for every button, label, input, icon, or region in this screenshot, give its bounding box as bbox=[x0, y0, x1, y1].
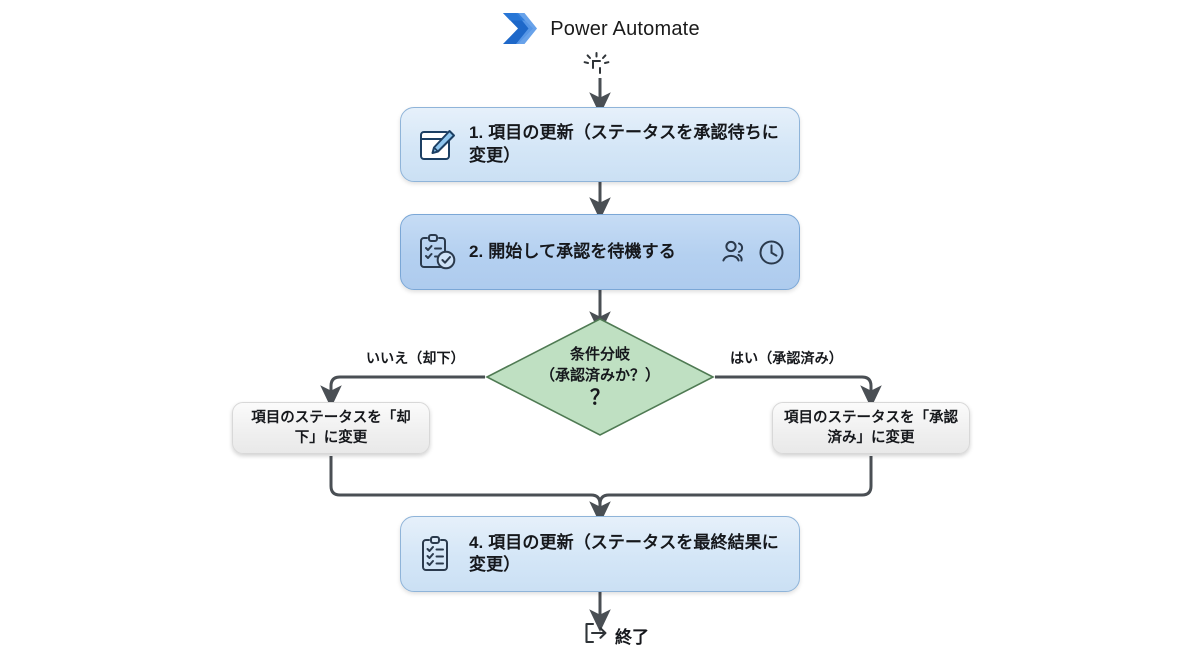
decision-line-2: （承認済みか？） bbox=[540, 366, 660, 386]
decision-line-1: 条件分岐 bbox=[570, 345, 630, 365]
decision-question-mark: ？ bbox=[590, 387, 610, 409]
end-label: 終了 bbox=[615, 623, 649, 648]
flowchart-canvas: Power Automate bbox=[0, 0, 1200, 669]
clipboard-list-icon bbox=[415, 532, 459, 576]
clipboard-check-icon bbox=[415, 230, 459, 274]
trigger-node bbox=[578, 52, 622, 87]
step-1-label: 1. 項目の更新（ステータスを承認待ちに変更） bbox=[469, 122, 785, 167]
step-2-start-and-wait-approval-box[interactable]: 2. 開始して承認を待機する bbox=[400, 214, 800, 290]
edit-note-icon bbox=[415, 123, 459, 167]
app-title: Power Automate bbox=[550, 19, 700, 39]
step-4-label: 4. 項目の更新（ステータスを最終結果に変更） bbox=[469, 532, 785, 577]
result-set-status-rejected-box[interactable]: 項目のステータスを「却下」に変更 bbox=[232, 402, 430, 454]
power-automate-logo-icon bbox=[500, 12, 538, 46]
decision-text: 条件分岐 （承認済みか？） ？ bbox=[485, 317, 715, 437]
step-4-update-item-final-box[interactable]: 4. 項目の更新（ステータスを最終結果に変更） bbox=[400, 516, 800, 592]
clock-icon bbox=[758, 239, 785, 266]
step-2-trailing-icons bbox=[720, 239, 785, 266]
result-approved-label: 項目のステータスを「承認済み」に変更 bbox=[783, 408, 959, 448]
end-node: 終了 bbox=[584, 622, 649, 649]
app-header: Power Automate bbox=[0, 12, 1200, 46]
decision-is-approved-diamond[interactable]: 条件分岐 （承認済みか？） ？ bbox=[485, 317, 715, 437]
step-2-label: 2. 開始して承認を待機する bbox=[469, 241, 712, 263]
branch-label-yes: はい（承認済み） bbox=[730, 348, 843, 368]
people-icon bbox=[720, 239, 750, 265]
step-1-update-item-box[interactable]: 1. 項目の更新（ステータスを承認待ちに変更） bbox=[400, 107, 800, 182]
result-set-status-approved-box[interactable]: 項目のステータスを「承認済み」に変更 bbox=[772, 402, 970, 454]
manual-trigger-click-icon bbox=[578, 69, 622, 86]
result-rejected-label: 項目のステータスを「却下」に変更 bbox=[243, 408, 419, 448]
exit-arrow-icon bbox=[584, 622, 608, 649]
branch-label-no: いいえ（却下） bbox=[366, 348, 465, 368]
